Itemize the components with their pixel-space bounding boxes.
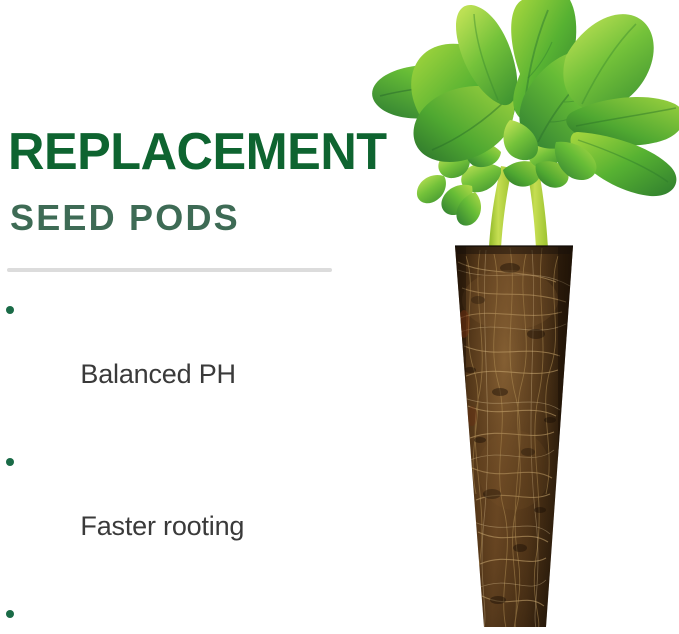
list-item: Balanced PH <box>4 292 464 424</box>
page-title: REPLACEMENT <box>8 126 387 178</box>
bullet-dot-icon <box>6 458 14 466</box>
product-feature-graphic: REPLACEMENT SEED PODS Balanced PH Faster… <box>0 0 679 634</box>
bullet-dot-icon <box>6 610 14 618</box>
feature-list: Balanced PH Faster rooting Good air poro… <box>4 292 464 634</box>
list-item-label: Faster rooting <box>80 511 244 541</box>
list-item-label: Balanced PH <box>80 359 235 389</box>
list-item: Faster rooting <box>4 444 464 576</box>
page-subtitle: SEED PODS <box>10 200 240 236</box>
list-item: Good air porosity <box>4 596 464 634</box>
divider <box>7 268 332 272</box>
bullet-dot-icon <box>6 306 14 314</box>
text-panel: REPLACEMENT SEED PODS Balanced PH Faster… <box>0 0 470 634</box>
